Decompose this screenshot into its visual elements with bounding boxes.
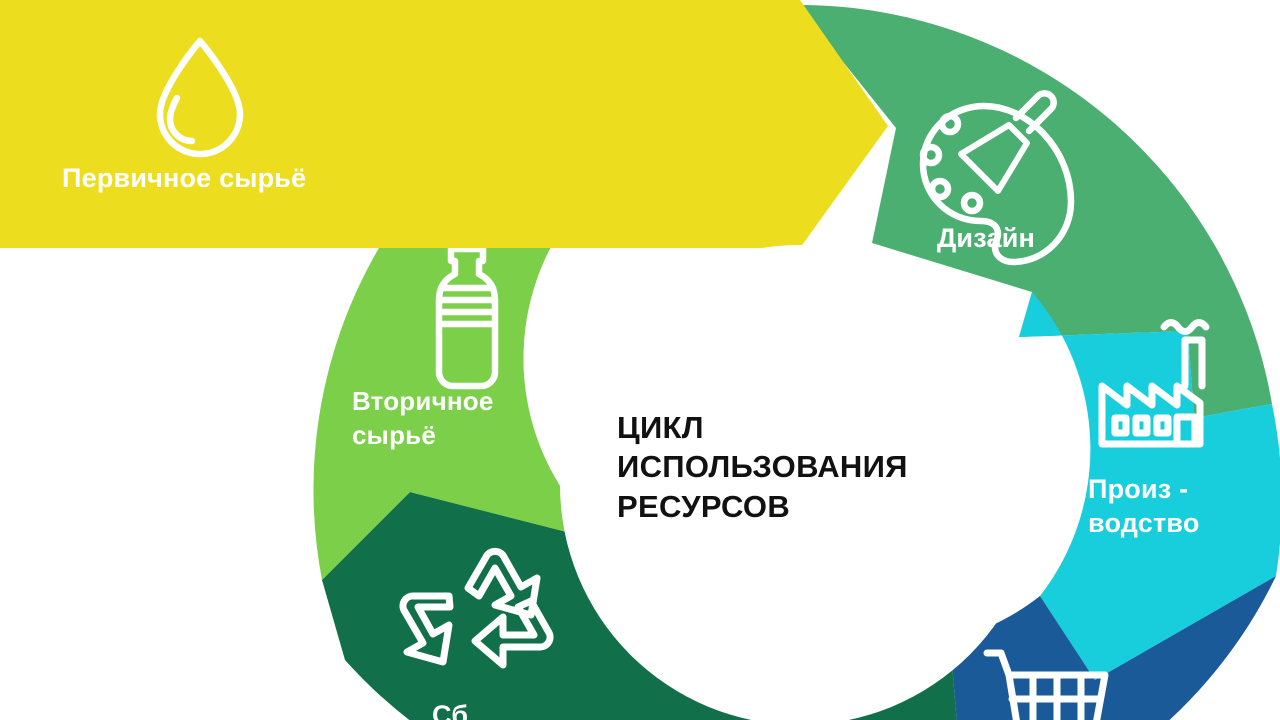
segment-primary-shape [0,0,888,248]
cycle-diagram-canvas [0,0,1280,720]
segment-primary-raw-material[interactable] [0,0,888,248]
center-disc [560,245,1040,720]
resource-cycle-infographic: Первичное сырьё Дизайн Произ - водство С… [0,0,1280,720]
